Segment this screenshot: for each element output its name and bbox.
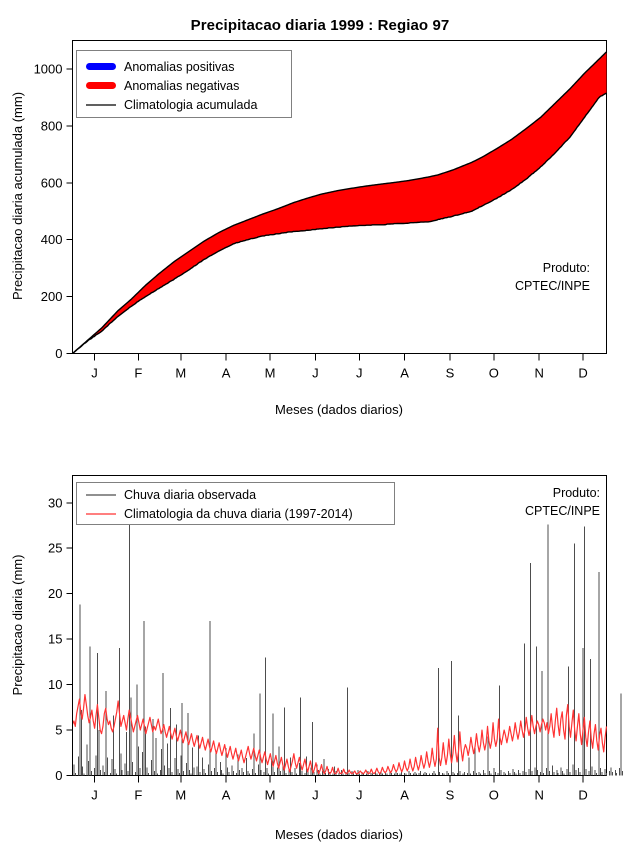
legend-swatch-negative-anomaly: [86, 82, 116, 89]
x-tick-label: D: [578, 788, 587, 803]
x-tick-label: J: [312, 788, 319, 803]
legend-label-climatology-accumulated: Climatologia acumulada: [124, 98, 257, 112]
y-tick-label: 0: [55, 768, 62, 783]
x-tick-label: N: [535, 366, 544, 381]
x-tick-label: A: [222, 366, 231, 381]
legend-label-observed-daily: Chuva diaria observada: [124, 488, 256, 502]
y-axis-label-bottom: Precipitacao diaria (mm): [10, 555, 25, 696]
x-tick-label: M: [175, 366, 186, 381]
x-tick-label: A: [222, 788, 231, 803]
y-tick-label: 0: [55, 346, 62, 361]
x-axis-label-top: Meses (dados diarios): [275, 402, 403, 417]
panel-daily-precipitation: 051015202530 JFMAMJJASOND Precipitacao d…: [0, 425, 640, 850]
x-tick-label: M: [265, 788, 276, 803]
legend-label-climatology-daily: Climatologia da chuva diaria (1997-2014): [124, 507, 353, 521]
legend-label-negative-anomaly: Anomalias negativas: [124, 79, 239, 93]
y-tick-label: 600: [41, 175, 63, 190]
y-tick-label: 15: [48, 632, 62, 647]
x-tick-label: F: [134, 366, 142, 381]
x-tick-label: S: [446, 366, 455, 381]
panel-accumulated-precipitation: Precipitacao diaria 1999 : Regiao 97 020…: [0, 0, 640, 425]
accumulated-precipitation-chart: 02004006008001000 JFMAMJJASOND Precipita…: [0, 0, 640, 425]
legend-label-positive-anomaly: Anomalias positivas: [124, 60, 234, 74]
x-tick-label: O: [489, 366, 499, 381]
produto-label-line1-bottom: Produto:: [553, 486, 600, 500]
x-tick-label: O: [489, 788, 499, 803]
y-tick-label: 800: [41, 118, 63, 133]
x-tick-label: J: [356, 788, 363, 803]
y-axis-bottom: 051015202530: [48, 495, 72, 783]
observed-daily-bars: [73, 498, 623, 775]
y-axis-top: 02004006008001000: [34, 61, 73, 361]
x-tick-label: D: [578, 366, 587, 381]
produto-label-line2-bottom: CPTEC/INPE: [525, 504, 600, 518]
x-tick-label: M: [265, 366, 276, 381]
y-tick-label: 1000: [34, 61, 63, 76]
y-tick-label: 20: [48, 586, 62, 601]
x-tick-label: N: [535, 788, 544, 803]
x-axis-top: JFMAMJJASOND: [91, 354, 588, 381]
legend-swatch-positive-anomaly: [86, 63, 116, 70]
y-axis-label-top: Precipitacao diaria acumulada (mm): [10, 92, 25, 300]
x-tick-label: F: [134, 788, 142, 803]
daily-precipitation-chart: 051015202530 JFMAMJJASOND Precipitacao d…: [0, 425, 640, 850]
x-tick-label: S: [446, 788, 455, 803]
produto-label-line2-top: CPTEC/INPE: [515, 279, 590, 293]
x-tick-label: M: [175, 788, 186, 803]
y-tick-label: 30: [48, 495, 62, 510]
x-tick-label: J: [356, 366, 363, 381]
x-tick-label: A: [400, 366, 409, 381]
x-tick-label: J: [312, 366, 319, 381]
figure-root: Precipitacao diaria 1999 : Regiao 97 020…: [0, 0, 640, 850]
x-axis-label-bottom: Meses (dados diarios): [275, 827, 403, 842]
legend-top: Anomalias positivas Anomalias negativas …: [77, 51, 292, 118]
x-tick-label: A: [400, 788, 409, 803]
y-tick-label: 10: [48, 677, 62, 692]
produto-label-line1-top: Produto:: [543, 261, 590, 275]
x-axis-bottom: JFMAMJJASOND: [91, 776, 588, 803]
y-tick-label: 5: [55, 723, 62, 738]
y-tick-label: 400: [41, 232, 63, 247]
x-tick-label: J: [91, 788, 98, 803]
x-tick-label: J: [91, 366, 98, 381]
legend-bottom: Chuva diaria observada Climatologia da c…: [77, 483, 395, 525]
y-tick-label: 200: [41, 289, 63, 304]
y-tick-label: 25: [48, 541, 62, 556]
